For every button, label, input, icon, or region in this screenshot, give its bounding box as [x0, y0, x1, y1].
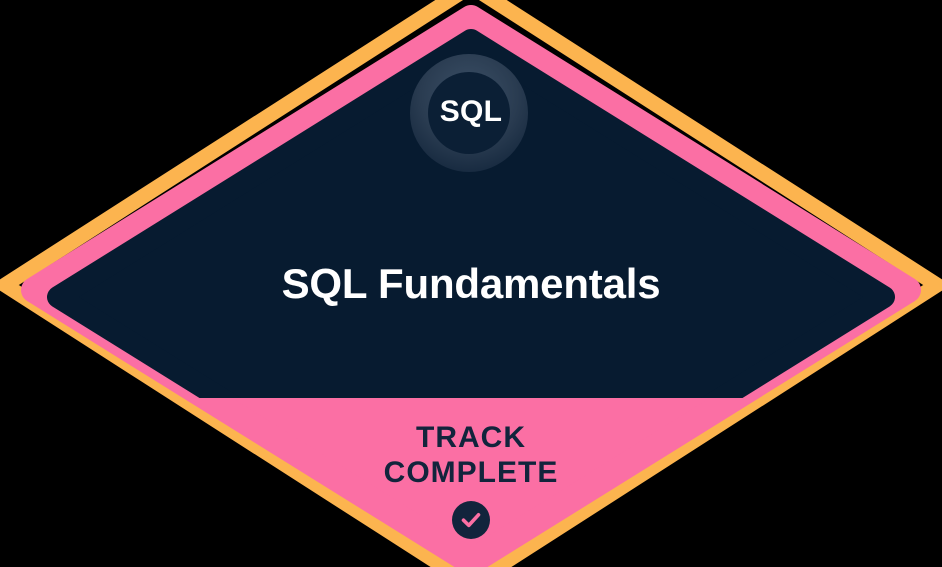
skill-tag-label: SQL [0, 95, 942, 129]
track-title: SQL Fundamentals [0, 258, 942, 310]
track-status-block: TRACK COMPLETE [0, 420, 942, 539]
check-icon [452, 501, 490, 539]
status-label-line-2: COMPLETE [0, 455, 942, 490]
completion-check-badge [0, 501, 942, 539]
track-badge-card[interactable]: SQL SQL Fundamentals TRACK COMPLETE [0, 0, 942, 567]
status-label-line-1: TRACK [0, 420, 942, 455]
